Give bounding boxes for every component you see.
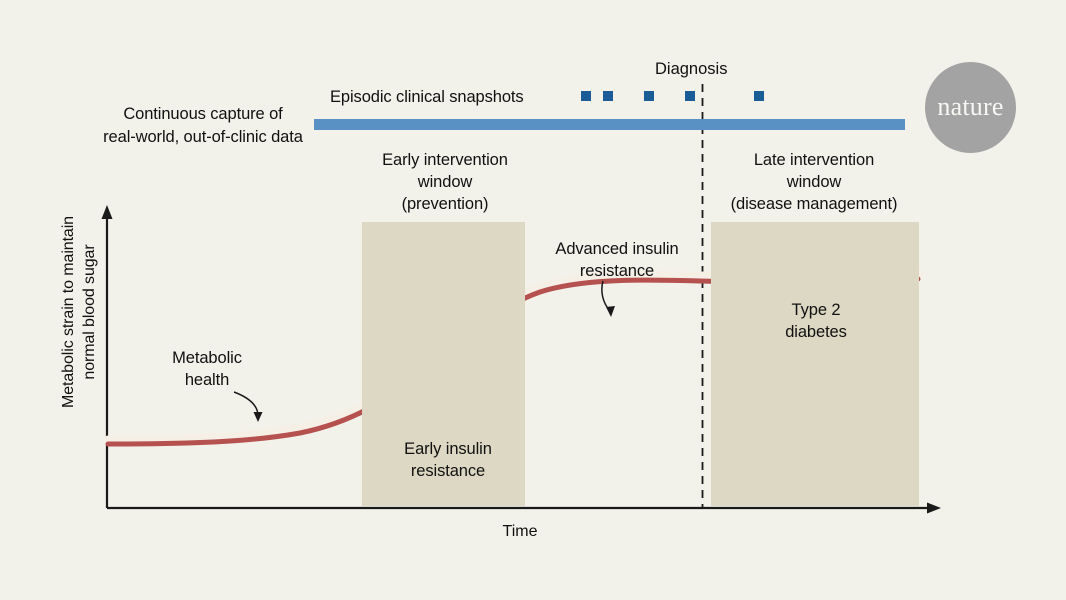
annotation-type2-line-1: Type 2 xyxy=(758,299,874,321)
x-axis-label: Time xyxy=(440,523,600,541)
snapshot-marker xyxy=(581,91,591,101)
annotation-early-insulin-line-2: resistance xyxy=(381,460,515,482)
late-window-line-1: Late intervention xyxy=(712,149,916,171)
annotation-advanced-insulin-resistance: Advanced insulin resistance xyxy=(534,238,700,282)
annotation-type2-line-2: diabetes xyxy=(758,321,874,343)
arrowhead-advanced-insulin xyxy=(606,306,615,317)
arrow-advanced-insulin xyxy=(602,281,610,311)
shaded-region-late-intervention xyxy=(711,222,919,506)
early-window-line-1: Early intervention xyxy=(352,149,538,171)
snapshot-marker xyxy=(644,91,654,101)
continuous-capture-label: Continuous capture of real-world, out-of… xyxy=(92,103,314,149)
annotation-advanced-insulin-line-2: resistance xyxy=(534,260,700,282)
annotation-advanced-insulin-line-1: Advanced insulin xyxy=(534,238,700,260)
annotation-type-2-diabetes: Type 2 diabetes xyxy=(758,299,874,343)
nature-logo-text: nature xyxy=(937,94,1003,122)
y-axis-label-line-2: normal blood sugar xyxy=(79,162,100,462)
arrowhead-metabolic-health xyxy=(254,412,263,422)
late-window-line-2: window xyxy=(712,171,916,193)
episodic-snapshots-label: Episodic clinical snapshots xyxy=(330,88,524,107)
late-intervention-window-title: Late intervention window (disease manage… xyxy=(712,149,916,215)
continuous-capture-line-1: Continuous capture of xyxy=(92,103,314,126)
snapshot-marker xyxy=(603,91,613,101)
snapshot-marker xyxy=(754,91,764,101)
early-window-line-3: (prevention) xyxy=(352,193,538,215)
y-axis-label: Metabolic strain to maintain normal bloo… xyxy=(58,162,100,462)
late-window-line-3: (disease management) xyxy=(712,193,916,215)
x-axis-arrowhead xyxy=(927,503,941,514)
annotation-metabolic-health: Metabolic health xyxy=(148,347,266,391)
annotation-metabolic-health-line-2: health xyxy=(148,369,266,391)
continuous-capture-bar xyxy=(314,119,905,130)
y-axis-label-line-1: Metabolic strain to maintain xyxy=(58,162,79,462)
annotation-early-insulin-resistance: Early insulin resistance xyxy=(381,438,515,482)
y-axis-arrowhead xyxy=(102,205,113,219)
early-intervention-window-title: Early intervention window (prevention) xyxy=(352,149,538,215)
annotation-early-insulin-line-1: Early insulin xyxy=(381,438,515,460)
continuous-capture-line-2: real-world, out-of-clinic data xyxy=(92,126,314,149)
diagnosis-label: Diagnosis xyxy=(655,60,727,79)
nature-logo: nature xyxy=(925,62,1016,153)
annotation-metabolic-health-line-1: Metabolic xyxy=(148,347,266,369)
snapshot-marker xyxy=(685,91,695,101)
early-window-line-2: window xyxy=(352,171,538,193)
